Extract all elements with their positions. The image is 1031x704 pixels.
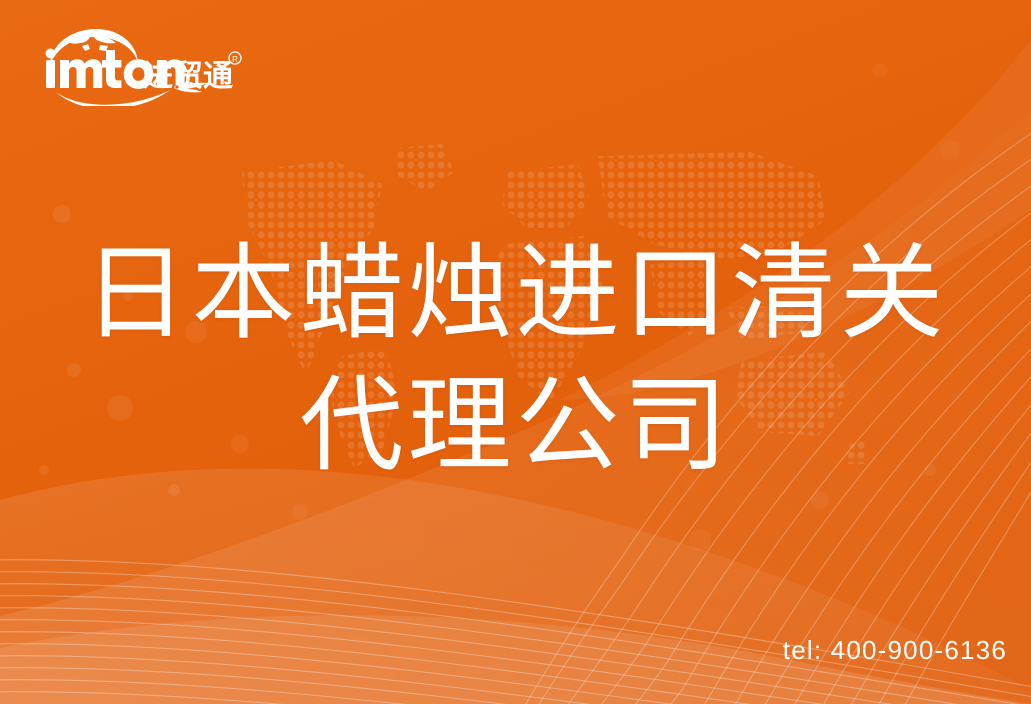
page-title-line-1: 日本蜡烛进口清关 <box>0 228 1031 360</box>
trademark-icon: R <box>229 52 241 64</box>
contact-phone: tel: 400-900-6136 <box>783 635 1007 666</box>
promo-banner: 进贸通 R 日本蜡烛进口清关 代理公司 tel: 400-900-6136 <box>0 0 1031 704</box>
brand-logo[interactable]: 进贸通 R <box>38 26 250 106</box>
globe-arc-icon <box>50 29 138 64</box>
trademark-glyph: R <box>232 55 238 64</box>
page-title-line-2: 代理公司 <box>0 360 1031 492</box>
page-title: 日本蜡烛进口清关 代理公司 <box>0 228 1031 492</box>
